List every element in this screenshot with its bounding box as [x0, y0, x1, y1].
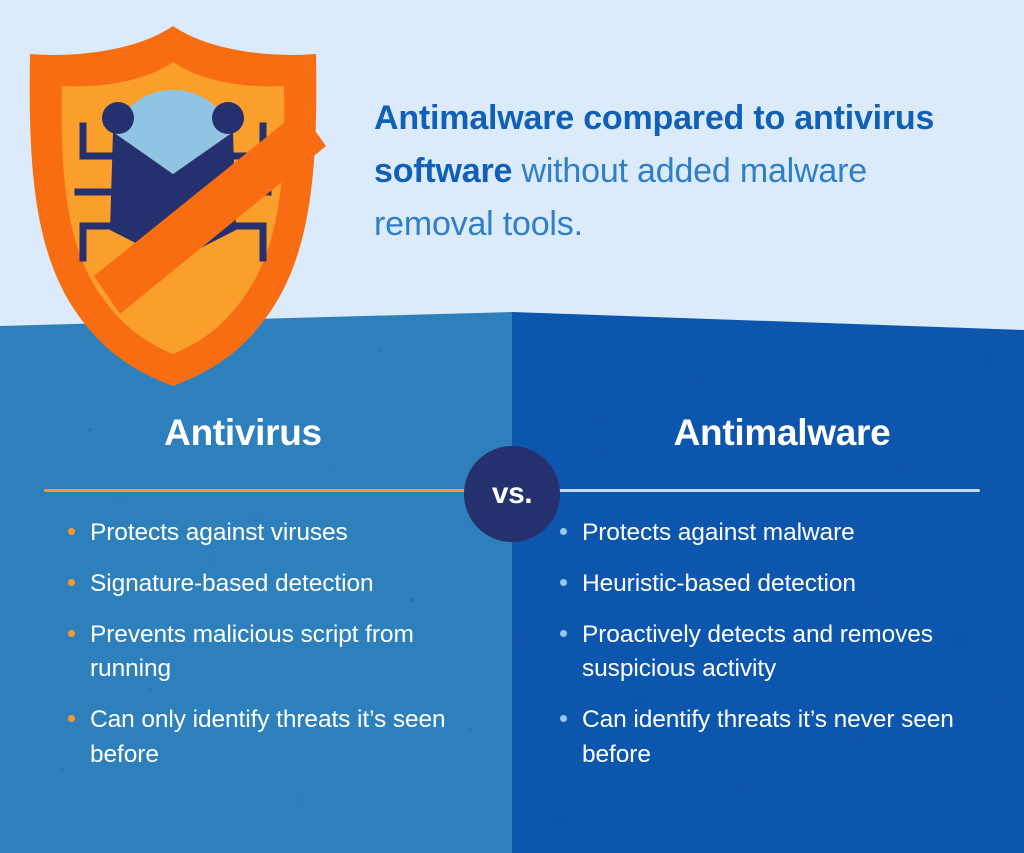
column-divider-left	[44, 489, 506, 492]
bullet-list-antivirus: Protects against viruses Signature-based…	[64, 516, 484, 789]
column-antivirus: Antivirus Protects against viruses Signa…	[0, 0, 512, 853]
list-item: Proactively detects and removes suspicio…	[556, 618, 986, 688]
list-item: Can only identify threats it’s seen befo…	[64, 703, 484, 773]
list-item: Prevents malicious script from running	[64, 618, 484, 688]
column-title-antimalware: Antimalware	[526, 412, 1024, 454]
vs-badge: vs.	[464, 446, 560, 542]
list-item: Protects against viruses	[64, 516, 484, 551]
list-item: Can identify threats it’s never seen bef…	[556, 703, 986, 773]
column-divider-right	[534, 489, 980, 492]
vs-badge-label: vs.	[492, 477, 532, 511]
list-item: Heuristic-based detection	[556, 567, 986, 602]
list-item: Protects against malware	[556, 516, 986, 551]
bullet-list-antimalware: Protects against malware Heuristic-based…	[556, 516, 986, 789]
list-item: Signature-based detection	[64, 567, 484, 602]
infographic-canvas: Antimalware compared to antivirus softwa…	[0, 0, 1024, 853]
column-title-antivirus: Antivirus	[0, 412, 499, 454]
